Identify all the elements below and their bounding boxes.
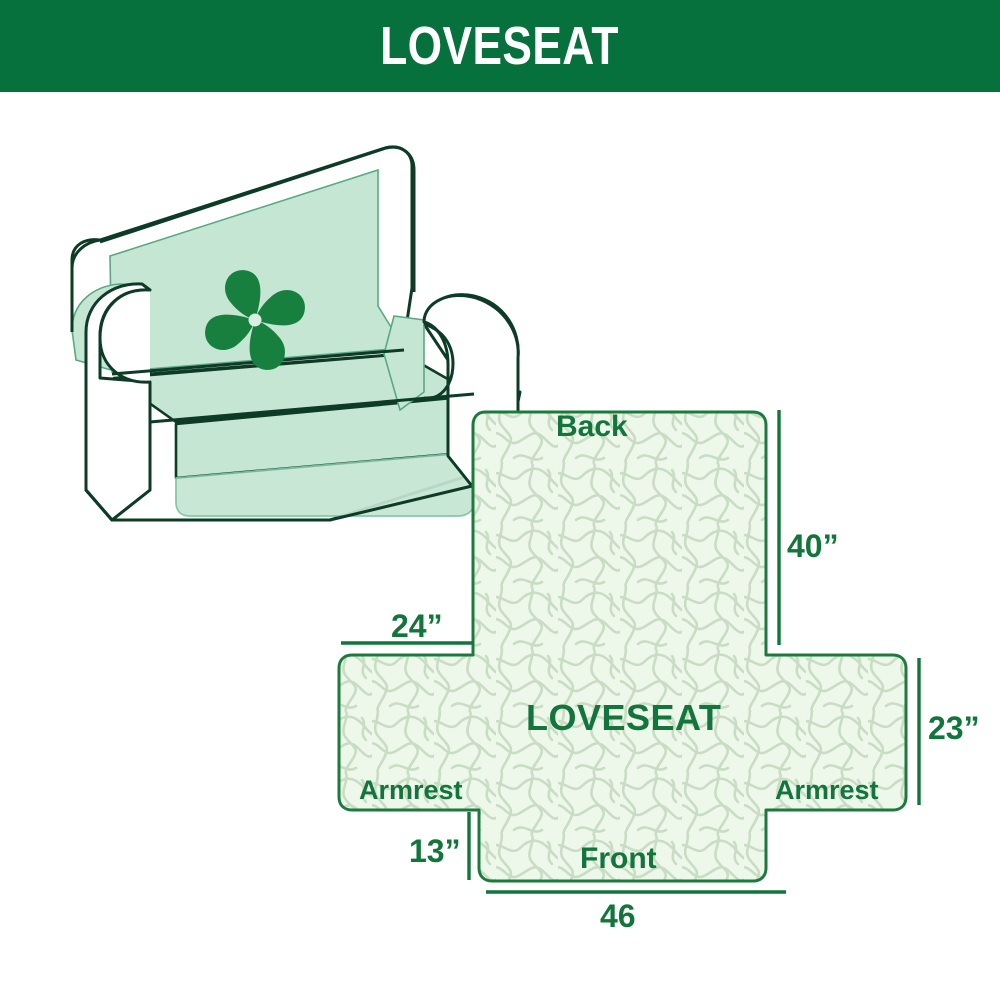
loveseat-illustration	[0, 92, 1000, 1000]
dimension-label-seat-depth: 23”	[928, 712, 980, 744]
panel-label-front: Front	[580, 844, 657, 874]
panel-label-armrest-right: Armrest	[775, 777, 879, 804]
dimension-label-front-width: 46	[600, 900, 636, 932]
header-banner: LOVESEAT	[0, 0, 1000, 92]
dimension-label-armrest-width: 24”	[391, 610, 443, 642]
sofa-drawing	[72, 147, 520, 520]
panel-label-armrest-left: Armrest	[359, 777, 463, 804]
panel-label-back: Back	[556, 412, 628, 442]
page-title: LOVESEAT	[381, 19, 620, 73]
diagram-stage: Back LOVESEAT Front Armrest Armrest 40” …	[0, 92, 1000, 1000]
dimension-label-front-drop: 13”	[409, 835, 461, 867]
panel-label-center: LOVESEAT	[526, 700, 721, 736]
dimension-label-back-height: 40”	[787, 530, 839, 562]
